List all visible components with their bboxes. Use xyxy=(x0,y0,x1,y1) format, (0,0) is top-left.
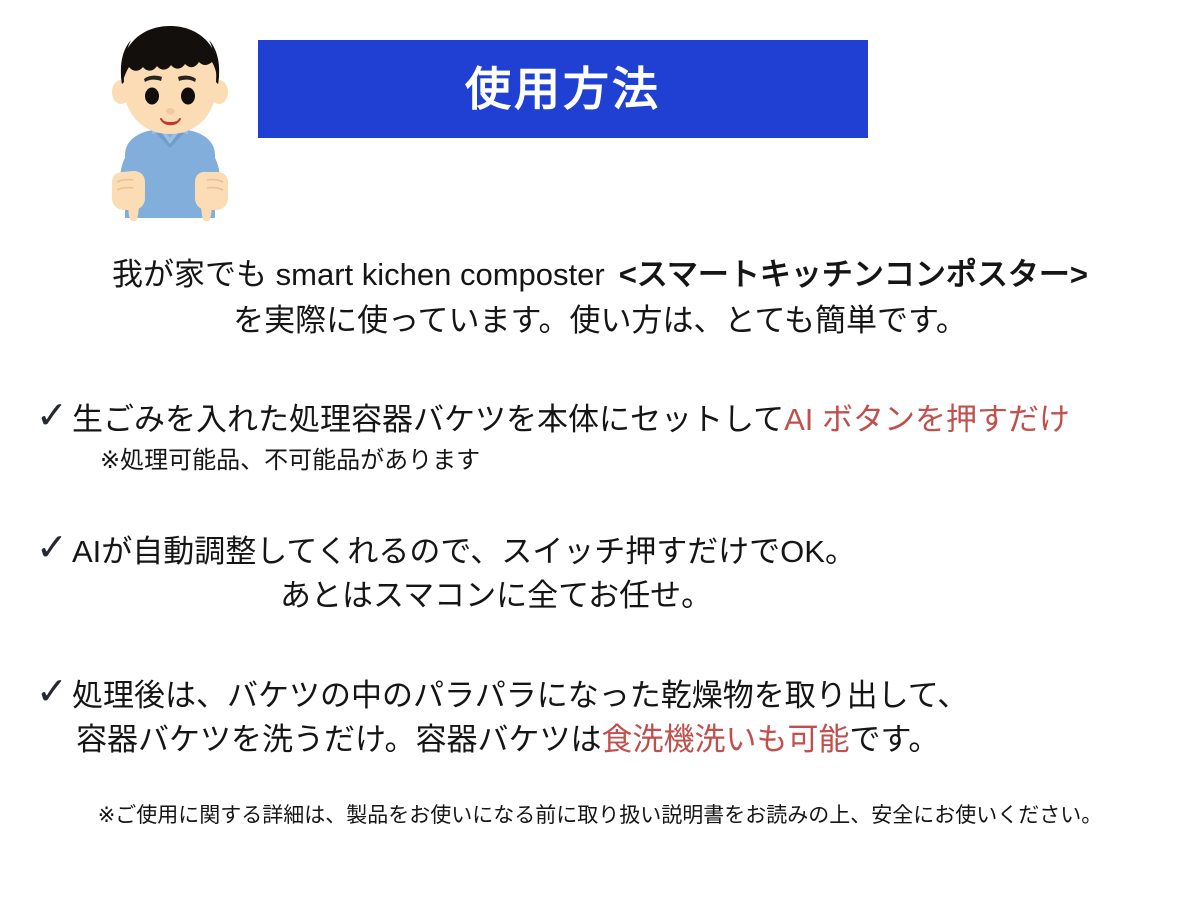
bullet-3-line-2: 容器バケツを洗うだけ。容器バケツは食洗機洗いも可能です。 xyxy=(40,718,1200,762)
intro-paragraph: 我が家でも smart kichen composter<スマートキッチンコンポ… xyxy=(0,252,1200,344)
bullet-3-line-1: 処理後は、バケツの中のパラパラになった乾燥物を取り出して、 xyxy=(40,674,1200,718)
page-title: 使用方法 xyxy=(465,66,661,112)
header-section: 使用方法 xyxy=(0,0,1200,245)
bullet-1-note: ※処理可能品、不可能品があります xyxy=(40,442,1200,480)
bullet-1-text-black: 生ごみを入れた処理容器バケツを本体にセットして xyxy=(72,402,784,437)
product-name-katakana: <スマートキッチンコンポスター> xyxy=(619,257,1088,292)
bullet-2-line-2: あとはスマコンに全てお任せ。 xyxy=(40,574,1200,618)
intro-line-2: を実際に使っています。使い方は、とても簡単です。 xyxy=(0,298,1200,344)
boy-pointing-down-illustration xyxy=(95,22,245,227)
footer-disclaimer: ※ご使用に関する詳細は、製品をお使いになる前に取り扱い説明書をお読みの上、安全に… xyxy=(0,800,1200,832)
bullet-3-text-black-a: 容器バケツを洗うだけ。容器バケツは xyxy=(76,722,601,757)
bullet-3-text-black-b: です。 xyxy=(849,722,939,757)
product-name-english: smart kichen composter xyxy=(276,257,605,292)
checkmark-icon: ✓ xyxy=(36,670,68,714)
instruction-list: ✓ 生ごみを入れた処理容器バケツを本体にセットしてAI ボタンを押すだけ ※処理… xyxy=(0,398,1200,762)
checkmark-icon: ✓ xyxy=(36,394,68,438)
page-title-banner: 使用方法 xyxy=(258,40,868,138)
checkmark-icon: ✓ xyxy=(36,526,68,570)
bullet-1-text-red: AI ボタンを押すだけ xyxy=(784,402,1070,437)
bullet-1-line-1: 生ごみを入れた処理容器バケツを本体にセットしてAI ボタンを押すだけ xyxy=(40,398,1200,442)
intro-line-1: 我が家でも smart kichen composter<スマートキッチンコンポ… xyxy=(0,252,1200,298)
list-item: ✓ 処理後は、バケツの中のパラパラになった乾燥物を取り出して、 容器バケツを洗う… xyxy=(0,674,1200,762)
bullet-3-text-red: 食洗機洗いも可能 xyxy=(601,722,849,757)
bullet-2-line-1: AIが自動調整してくれるので、スイッチ押すだけでOK。 xyxy=(40,530,1200,574)
list-item: ✓ AIが自動調整してくれるので、スイッチ押すだけでOK。 あとはスマコンに全て… xyxy=(0,530,1200,618)
intro-prefix: 我が家でも xyxy=(112,257,276,292)
list-item: ✓ 生ごみを入れた処理容器バケツを本体にセットしてAI ボタンを押すだけ ※処理… xyxy=(0,398,1200,480)
